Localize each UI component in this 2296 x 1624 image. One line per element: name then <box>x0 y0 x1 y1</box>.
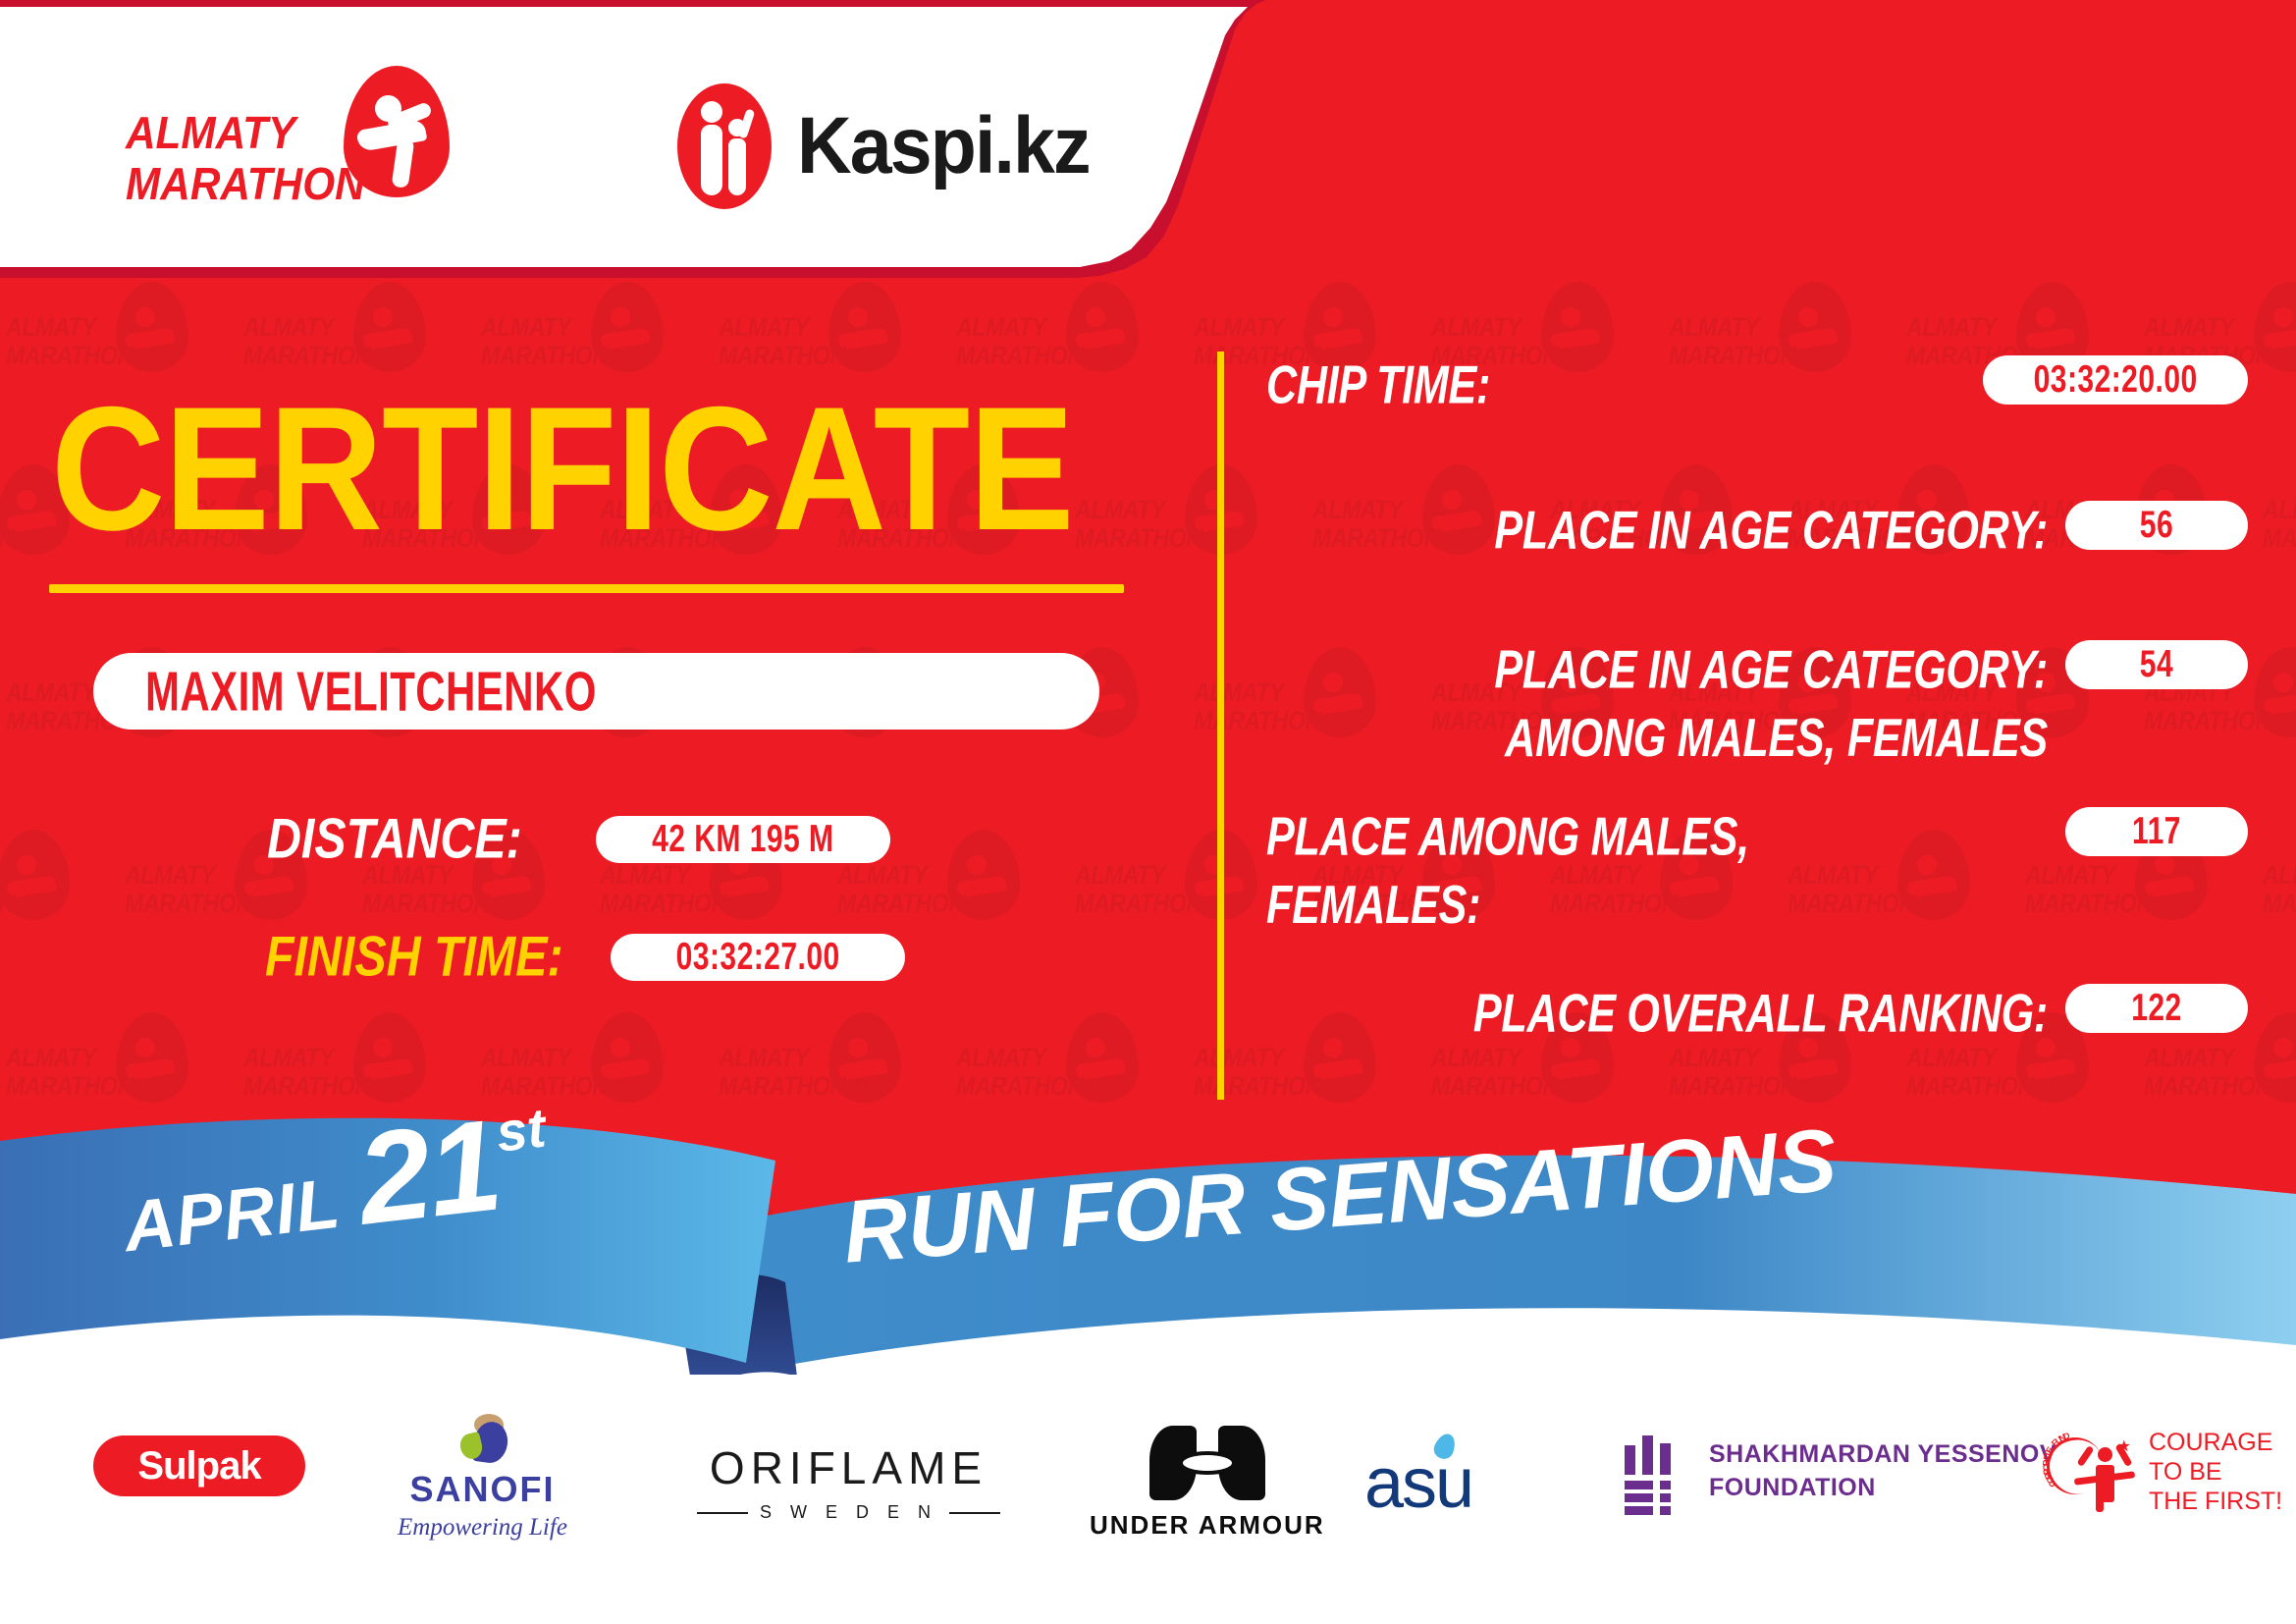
chip-time-label: CHIP TIME: <box>1266 352 1702 419</box>
place-age-category-gender-value: 54 <box>2140 643 2173 686</box>
chip-time-value: 03:32:20.00 <box>2033 358 2197 402</box>
event-day: 21 <box>352 1110 504 1233</box>
place-among-gender-value-pill: 117 <box>2065 807 2248 856</box>
finish-time-value-pill: 03:32:27.00 <box>611 934 905 981</box>
page-title: CERTIFICATE <box>51 381 1074 557</box>
place-age-category-gender-row: PLACE IN AGE CATEGORY: AMONG MALES, FEMA… <box>1266 636 2248 758</box>
oriflame-sub: S W E D E N <box>697 1502 1000 1523</box>
under-armour-icon <box>1149 1426 1265 1500</box>
place-overall-ranking-row: PLACE OVERALL RANKING: 122 <box>1266 980 2248 1041</box>
sponsor-bar: Sulpak SANOFI Empowering Life ORIFLAME S… <box>0 1414 2296 1600</box>
place-overall-ranking-value-pill: 122 <box>2065 984 2248 1033</box>
certificate-left-column: CERTIFICATE MAXIM VELITCHENKO DISTANCE: … <box>0 334 1227 1119</box>
distance-value: 42 KM 195 M <box>653 818 834 861</box>
participant-name-field: MAXIM VELITCHENKO <box>93 653 1099 730</box>
sulpak-badge: Sulpak <box>93 1435 305 1496</box>
kaspi-people-icon <box>677 83 772 209</box>
oriflame-label: ORIFLAME <box>710 1441 988 1494</box>
corporate-fund-label: COURAGE TO BE THE FIRST! <box>2149 1428 2282 1516</box>
participant-name: MAXIM VELITCHENKO <box>145 659 597 724</box>
oriflame-rule-left <box>697 1512 748 1514</box>
distance-row: DISTANCE: 42 KM 195 M <box>267 810 890 869</box>
logo-line-1: ALMATY <box>126 107 295 158</box>
place-among-gender-value: 117 <box>2132 810 2181 853</box>
finish-time-row: FINISH TIME: 03:32:27.00 <box>265 928 905 987</box>
distance-value-pill: 42 KM 195 M <box>596 816 890 863</box>
chip-time-value-pill: 03:32:20.00 <box>1983 355 2248 405</box>
sponsor-logo-sanofi: SANOFI Empowering Life <box>398 1414 567 1542</box>
almaty-marathon-logo-text: ALMATYMARATHON <box>126 107 365 209</box>
place-overall-ranking-label: PLACE OVERALL RANKING: <box>1361 980 2048 1048</box>
finish-time-label: FINISH TIME: <box>265 925 563 990</box>
sponsor-logo-corporate-fund: CORPORATE FUND ★ COURAGE TO BE THE FIRST… <box>2047 1428 2282 1516</box>
sanofi-tagline: Empowering Life <box>398 1514 567 1542</box>
event-day-suffix: st <box>493 1096 549 1164</box>
title-underline <box>49 584 1124 593</box>
yessenov-label: SHAKHMARDAN YESSENOV FOUNDATION <box>1709 1437 2056 1504</box>
yessenov-bars-icon <box>1625 1432 1689 1510</box>
place-among-gender-label: PLACE AMONG MALES, FEMALES: <box>1266 803 1864 940</box>
sanofi-label: SANOFI <box>409 1469 555 1510</box>
distance-label: DISTANCE: <box>267 807 522 872</box>
almaty-marathon-logo: ALMATYMARATHON <box>126 66 450 223</box>
sponsor-logo-sulpak: Sulpak <box>93 1435 305 1496</box>
sulpak-label: Sulpak <box>137 1444 260 1489</box>
place-age-category-gender-label: PLACE IN AGE CATEGORY: AMONG MALES, FEMA… <box>1361 636 2048 773</box>
sponsor-logo-asu: asu <box>1364 1443 1472 1524</box>
chip-time-row: CHIP TIME: 03:32:20.00 <box>1266 352 2248 412</box>
logo-line-2: MARATHON <box>126 158 365 209</box>
kaspi-logo-text: Kaspi.kz <box>797 100 1090 192</box>
sponsor-logo-yessenov-foundation: SHAKHMARDAN YESSENOV FOUNDATION <box>1625 1432 2056 1510</box>
column-divider <box>1217 352 1224 1100</box>
place-overall-ranking-value: 122 <box>2131 987 2182 1030</box>
under-armour-label: UNDER ARMOUR <box>1090 1510 1325 1541</box>
fund-runner-icon: ★ <box>2080 1441 2129 1512</box>
place-age-category-label: PLACE IN AGE CATEGORY: <box>1361 497 2048 565</box>
finish-time-value: 03:32:27.00 <box>676 936 840 979</box>
place-age-category-value: 56 <box>2140 504 2173 547</box>
sanofi-petal-icon <box>451 1414 513 1465</box>
corporate-fund-icon: CORPORATE FUND ★ <box>2047 1430 2133 1514</box>
asu-label: asu <box>1364 1443 1472 1524</box>
place-age-category-gender-value-pill: 54 <box>2065 640 2248 689</box>
header-bar: ALMATYMARATHON Kaspi.kz <box>0 7 1276 278</box>
kaspi-logo: Kaspi.kz <box>677 83 1108 209</box>
oriflame-rule-right <box>949 1512 1000 1514</box>
place-age-category-row: PLACE IN AGE CATEGORY: 56 <box>1266 497 2248 558</box>
sponsor-logo-under-armour: UNDER ARMOUR <box>1090 1426 1325 1541</box>
oriflame-country: S W E D E N <box>760 1502 937 1523</box>
place-among-gender-row: PLACE AMONG MALES, FEMALES: 117 <box>1266 803 2248 925</box>
certificate-page: ALMATYMARATHONALMATYMARATHONALMATYMARATH… <box>0 0 2296 1624</box>
place-age-category-value-pill: 56 <box>2065 501 2248 550</box>
sponsor-logo-oriflame: ORIFLAME S W E D E N <box>697 1441 1000 1523</box>
certificate-right-column: CHIP TIME: 03:32:20.00 PLACE IN AGE CATE… <box>1266 352 2248 1108</box>
